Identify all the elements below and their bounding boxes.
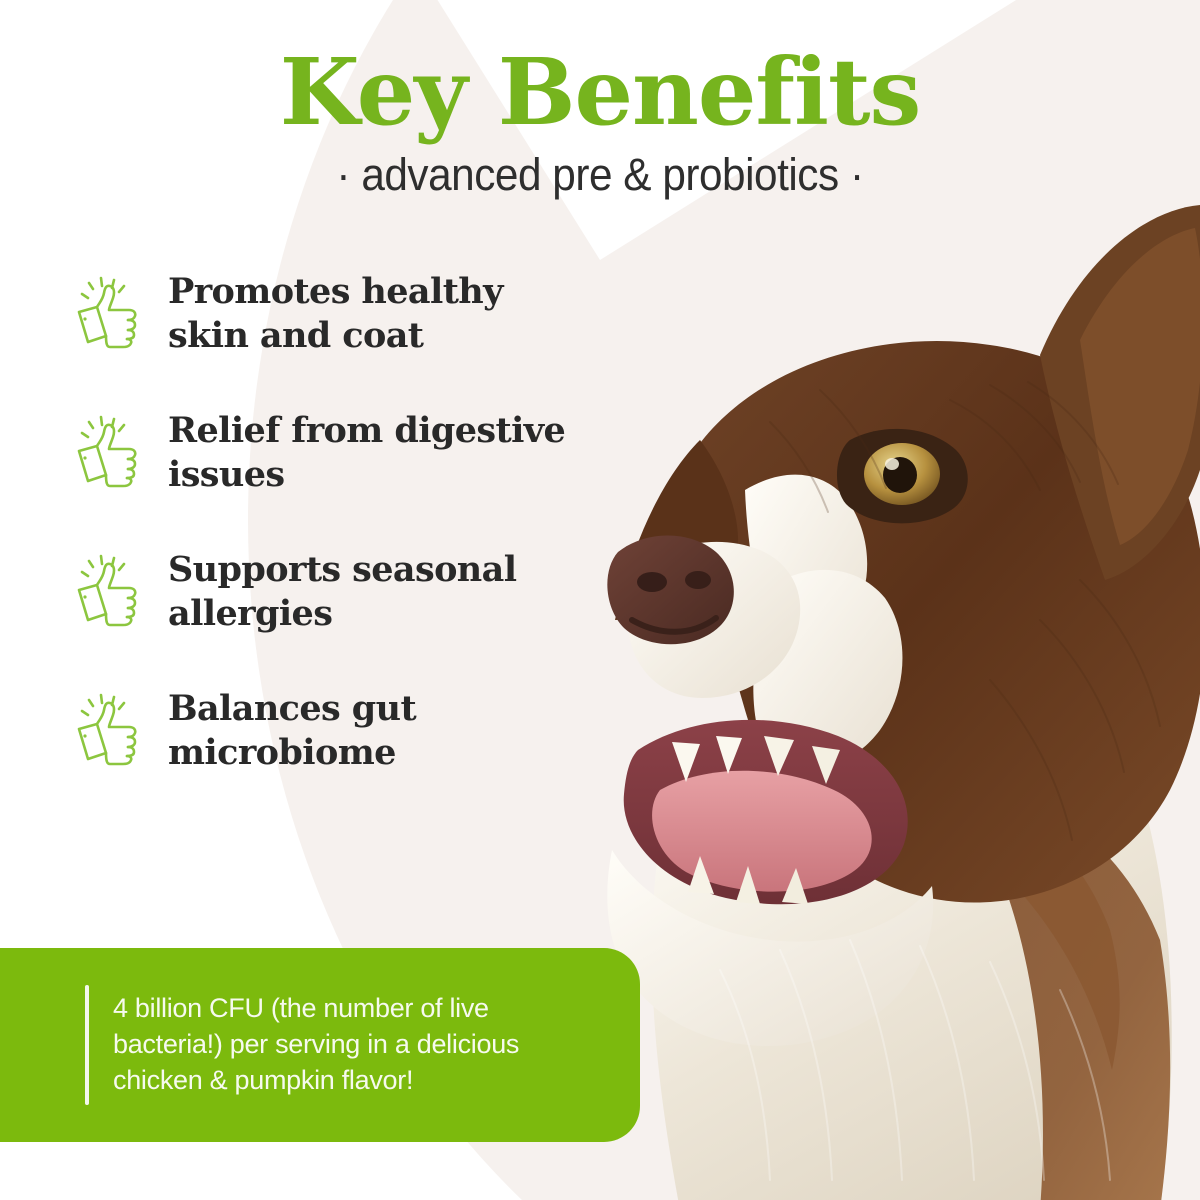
key-benefits-graphic: Key Benefits · advanced pre & probiotics… (0, 0, 1200, 1200)
page-subtitle: · advanced pre & probiotics · (36, 140, 1164, 200)
thumbs-up-icon (74, 413, 144, 493)
callout-accent-rule (85, 985, 89, 1105)
header: Key Benefits · advanced pre & probiotics… (0, 0, 1200, 199)
page-title: Key Benefits (0, 0, 1200, 140)
list-item: Supports seasonal allergies (0, 546, 660, 637)
thumbs-up-icon (74, 274, 144, 354)
list-item: Relief from digestive issues (0, 407, 660, 498)
benefit-label: Supports seasonal allergies (168, 546, 588, 637)
cfu-callout-banner: 4 billion CFU (the number of live bacter… (0, 948, 640, 1142)
benefit-label: Relief from digestive issues (168, 407, 588, 498)
callout-text: 4 billion CFU (the number of live bacter… (113, 991, 583, 1099)
list-item: Promotes healthy skin and coat (0, 268, 660, 359)
benefits-list: Promotes healthy skin and coat (0, 268, 660, 776)
benefit-label: Balances gut microbiome (168, 685, 588, 776)
benefit-label: Promotes healthy skin and coat (168, 268, 588, 359)
thumbs-up-icon (74, 552, 144, 632)
thumbs-up-icon (74, 691, 144, 771)
list-item: Balances gut microbiome (0, 685, 660, 776)
